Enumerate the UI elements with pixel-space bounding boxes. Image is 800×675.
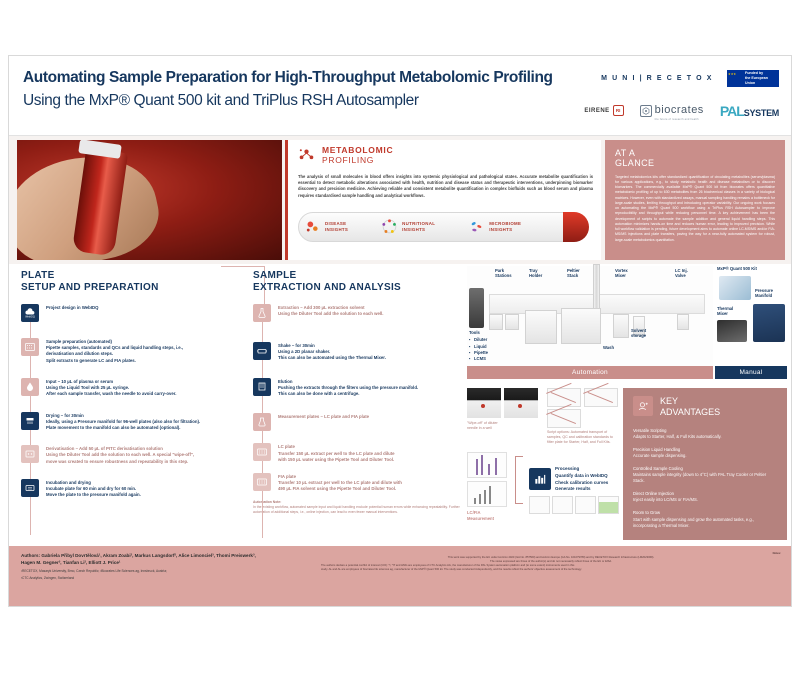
key-advantages-panel: KEY ADVANTAGES Versatile Scripting Adapt… <box>623 388 787 540</box>
plate-step-2-text: Sample preparation (automated) Pipette s… <box>46 338 183 364</box>
plate-step-6-text: Incubation and drying Incubate plate for… <box>46 479 141 499</box>
insights-tube-graphic: DISEASE INSIGHTS NUTRITIONAL INSIGHTS <box>288 200 604 256</box>
vortex-mixer-graphic <box>613 314 629 338</box>
sample-step-fia-plate: FIA plate Transfer 10 µL extract per wel… <box>253 473 463 493</box>
poster-title-line1: Automating Sample Preparation for High-T… <box>23 68 583 87</box>
sample-section-title-1: SAMPLE <box>253 270 463 282</box>
label-pressure-manifold: Pressure Manifold <box>755 288 773 299</box>
elution-icon <box>253 378 271 396</box>
plate-step-5-text: Derivatisation – Add 50 µL of PITC deriv… <box>46 445 194 465</box>
shaker-icon <box>253 342 271 360</box>
webiq-screenshots <box>529 496 619 514</box>
label-lc-inj-valve: LC Inj. Valve <box>675 268 688 279</box>
top-logo-row: M U N I | R E C E T O X Funded by the Eu… <box>601 70 779 87</box>
plate-step-4-text: Drying – for 30min Ideally, using a Pres… <box>46 412 200 432</box>
metabolomic-body-text: The analysis of small molecules in blood… <box>298 174 593 199</box>
bottom-logo-row: EIRENE RI biocrates the future of resear… <box>584 100 779 121</box>
sample-section-title-2: EXTRACTION AND ANALYSIS <box>253 282 463 294</box>
automation-note: Automation Note: In the existing workflo… <box>253 500 463 515</box>
sample-section: SAMPLE EXTRACTION AND ANALYSIS Extractio… <box>253 270 463 515</box>
peak <box>484 490 486 504</box>
label-vortex-mixer: Vortex Mixer <box>615 268 628 279</box>
sample-step-1-text: Extraction – Add 300 µL extraction solve… <box>278 304 383 322</box>
lc-valve-graphic <box>677 314 689 330</box>
peak <box>495 458 497 475</box>
sample-step-4-text: Measurement plates – LC plate and FIA pl… <box>278 413 369 431</box>
biocrates-logo: biocrates the future of research and hea… <box>640 100 704 121</box>
drying-icon <box>21 412 39 430</box>
sample-step-elution: Elution Pushing the extracts through the… <box>253 378 463 398</box>
autosampler-arm <box>593 264 600 314</box>
insights-row: DISEASE INSIGHTS NUTRITIONAL INSIGHTS <box>304 218 521 235</box>
metabolomic-title-2: PROFILING <box>322 156 393 166</box>
extraction-vial-icon <box>253 304 271 322</box>
plate-96-well-icon <box>21 338 39 356</box>
insight-microbiome-label: MICROBIOME INSIGHTS <box>489 221 521 232</box>
peak <box>474 498 476 504</box>
sample-step-3-text: Elution Pushing the extracts through the… <box>278 378 418 398</box>
measurement-plate-icon <box>253 413 271 431</box>
insight-microbiome: MICROBIOME INSIGHTS <box>468 218 521 235</box>
incubation-icon <box>21 479 39 497</box>
lcfia-processing-block: LC/FIA Measurement Processing Quantify d… <box>467 452 617 522</box>
processing-brace <box>515 456 523 504</box>
food-circle-icon <box>381 218 398 235</box>
key-advantages-list: Versatile Scripting Adapts to Starter, H… <box>633 428 777 529</box>
processing-line-1: Processing <box>555 466 608 473</box>
tools-list: Tools Diluter Liquid Pipette LCMS <box>469 330 488 362</box>
poster-header: Automating Sample Preparation for High-T… <box>9 56 791 136</box>
metabolomic-profiling-panel: METABOLOMIC PROFILING The analysis of sm… <box>285 140 601 260</box>
at-a-glance-body: Targeted metabolomics kits offer standar… <box>615 175 775 243</box>
label-wash: Wash <box>603 345 614 350</box>
label-thermal-mixer: Thermal Mixer <box>717 306 733 317</box>
plate-step-derivatisation: Derivatisation – Add 50 µL of PITC deriv… <box>21 445 249 465</box>
park-station-graphic <box>489 314 503 330</box>
key-advantages-title-block: KEY ADVANTAGES <box>660 396 720 418</box>
webiq-screenshot-1 <box>529 496 550 514</box>
biocrates-tagline: the future of research and health <box>655 118 704 121</box>
hero-band: METABOLOMIC PROFILING The analysis of sm… <box>9 136 791 264</box>
sample-steps-list: Extraction – Add 300 µL extraction solve… <box>253 304 463 515</box>
plate-section: PLATE SETUP AND PREPARATION WebIDQ Proje… <box>21 270 249 506</box>
bar-chart-icon <box>529 468 551 490</box>
affiliation-line-2: ³CTC Analytics, Zwingen, Switzerland <box>21 576 779 581</box>
tool-lcms: LCMS <box>469 356 488 362</box>
label-peltier-stack: Peltier Stack <box>567 268 580 279</box>
metabolomic-title-block: METABOLOMIC PROFILING <box>322 146 393 166</box>
eirene-ri-icon: RI <box>613 105 624 116</box>
key-advantages-title-2: ADVANTAGES <box>660 407 720 418</box>
peak <box>488 464 490 475</box>
autosampler-illustration: Park Stations Tray Holder Peltier Stack … <box>467 266 713 366</box>
plate-step-sample-prep: Sample preparation (automated) Pipette s… <box>21 338 249 364</box>
plate-step-input: Input – 10 µL of plasma or serum Using t… <box>21 378 249 398</box>
tray-holder-graphic <box>525 310 557 344</box>
eirene-logo: EIRENE RI <box>584 105 623 116</box>
fineprint-block: Notes: This work was supported by the EU… <box>321 552 781 572</box>
peak <box>479 494 481 504</box>
key-advantage-item: Room to Grow Start with sample dispensin… <box>633 510 777 528</box>
key-advantage-item: Direct Online Injection Inject easily in… <box>633 491 777 503</box>
photo-evidence-row: "Wipe-off" of diluter needle in a well S… <box>467 388 617 431</box>
derivatisation-icon <box>21 445 39 463</box>
script-screen-2 <box>584 388 618 407</box>
plate-section-title-2: SETUP AND PREPARATION <box>21 282 249 294</box>
plate-step-drying: Drying – for 30min Ideally, using a Pres… <box>21 412 249 432</box>
plate-steps-list: WebIDQ Project design in WebIDQ Sample p… <box>21 304 249 499</box>
label-tray-holder: Tray Holder <box>529 268 542 279</box>
processing-text: Processing Quantify data in WebIDQ Check… <box>555 466 608 493</box>
mxp-quant-kit-photo <box>719 276 751 300</box>
title-block: Automating Sample Preparation for High-T… <box>23 68 583 111</box>
eirene-wordmark: EIRENE <box>584 108 609 114</box>
sample-step-measurement-plates: Measurement plates – LC plate and FIA pl… <box>253 413 463 431</box>
sample-step-2-text: Shake – for 30min Using a 2D planar shak… <box>278 342 386 362</box>
script-screen-1 <box>547 388 581 407</box>
pal-system-word: SYSTEM <box>744 108 779 118</box>
fia-plate-icon <box>253 473 271 491</box>
key-advantages-title-1: KEY <box>660 396 720 407</box>
biocrates-wordmark: biocrates <box>655 104 704 116</box>
webiq-screenshot-3 <box>575 496 596 514</box>
metabolomic-profiling-header: METABOLOMIC PROFILING <box>298 146 593 166</box>
molecule-icon <box>298 146 315 163</box>
peak <box>489 486 491 504</box>
key-advantages-header: KEY ADVANTAGES <box>633 396 777 418</box>
droplet-icon <box>21 378 39 396</box>
insight-disease: DISEASE INSIGHTS <box>304 218 348 235</box>
automation-note-body: In the existing workflow, automated samp… <box>253 505 463 515</box>
sample-step-6-text: FIA plate Transfer 10 µL extract per wel… <box>278 473 402 493</box>
peak <box>481 455 483 475</box>
eu-stars-icon <box>727 70 744 87</box>
label-park-stations: Park Stations <box>495 268 512 279</box>
wipe-off-photo-2 <box>504 388 538 418</box>
manual-band-label: Manual <box>715 366 787 379</box>
plate-step-3-text: Input – 10 µL of plasma or serum Using t… <box>46 378 176 398</box>
sample-step-extraction: Extraction – Add 300 µL extraction solve… <box>253 304 463 322</box>
sample-step-shake: Shake – for 30min Using a 2D planar shak… <box>253 342 463 362</box>
plate-step-1-text: Project design in WebIDQ <box>46 304 98 322</box>
biocrates-hexagon-icon <box>640 105 652 117</box>
sample-step-5-text: LC plate Transfer 150 µL extract per wel… <box>278 443 395 463</box>
webiq-screenshot-4 <box>598 496 619 514</box>
webiq-screenshot-2 <box>552 496 573 514</box>
poster-canvas: Automating Sample Preparation for High-T… <box>8 55 792 607</box>
virus-icon <box>304 218 321 235</box>
peltier-stack-graphic <box>561 308 601 344</box>
instrument-diagram: Park Stations Tray Holder Peltier Stack … <box>467 266 787 384</box>
at-a-glance-title-2: GLANCE <box>615 158 775 168</box>
automation-band-label: Automation <box>467 366 713 379</box>
script-screens-row-1 <box>547 388 619 407</box>
label-solvent-storage: Solvent storage <box>631 328 646 339</box>
blood-tube-photo <box>17 140 282 260</box>
pressure-manifold-photo <box>753 304 785 342</box>
processing-line-3: Check calibration curves <box>555 480 608 487</box>
webiq-cloud-icon: WebIDQ <box>21 304 39 322</box>
script-screen-3 <box>547 409 581 428</box>
plate-section-title-1: PLATE <box>21 270 249 282</box>
eu-funding-logo: Funded by the European Union <box>727 70 779 87</box>
biocrates-wordmark-block: biocrates the future of research and hea… <box>655 100 704 121</box>
processing-line-2: Quantify data in WebIDQ <box>555 473 608 480</box>
tool-park-graphic <box>469 288 484 328</box>
fineprint-line-4: study. AL and AL are employees of biocra… <box>321 568 781 572</box>
insight-disease-label: DISEASE INSIGHTS <box>325 221 348 232</box>
plate-step-incubation: Incubation and drying Incubate plate for… <box>21 479 249 499</box>
sample-step-lc-plate: LC plate Transfer 150 µL extract per wel… <box>253 443 463 463</box>
bacteria-icon <box>468 218 485 235</box>
pal-wordmark: PAL <box>720 103 744 119</box>
thermal-mixer-photo <box>717 320 747 342</box>
label-mxp-quant-kit: MxP® Quant 500 Kit <box>717 266 757 271</box>
lightbulb-hand-icon <box>633 396 653 416</box>
poster-title-line2: Using the MxP® Quant 500 kit and TriPlus… <box>23 91 583 110</box>
key-advantage-item: Controlled Sample Cooling Maintains samp… <box>633 466 777 484</box>
script-option-screens: Script options: Automated transport of s… <box>547 388 619 446</box>
at-a-glance-title-1: AT A <box>615 148 775 158</box>
peak <box>476 459 478 475</box>
muni-recetox-logo: M U N I | R E C E T O X <box>601 75 713 82</box>
script-options-caption: Script options: Automated transport of s… <box>547 430 619 446</box>
at-a-glance-panel: AT A GLANCE Targeted metabolomics kits o… <box>605 140 785 260</box>
pal-system-logo: PAL SYSTEM <box>720 103 779 119</box>
poster-footer: Authors: Gabriela Přibyl Dovrtělová¹, Ak… <box>9 546 791 607</box>
insight-nutritional: NUTRITIONAL INSIGHTS <box>381 218 435 235</box>
manual-equipment-group: MxP® Quant 500 Kit Thermal Mixer Pressur… <box>715 266 787 366</box>
insight-nutritional-label: NUTRITIONAL INSIGHTS <box>402 221 435 232</box>
tools-title: Tools <box>469 330 488 336</box>
eu-funding-text: Funded by the European Union <box>744 71 779 86</box>
wipe-off-photo-1 <box>467 388 501 418</box>
svg-text:WebIDQ: WebIDQ <box>25 316 35 319</box>
chromatogram-fia <box>467 481 507 507</box>
plate-step-project-design: WebIDQ Project design in WebIDQ <box>21 304 249 322</box>
lc-plate-icon <box>253 443 271 461</box>
key-advantage-item: Versatile Scripting Adapts to Starter, H… <box>633 428 777 440</box>
wipe-off-caption: "Wipe-off" of diluter needle in a well <box>467 421 507 431</box>
park-station-graphic-2 <box>505 314 519 330</box>
processing-line-4: Generate results <box>555 486 608 493</box>
key-advantage-item: Precision Liquid Handling Accurate sampl… <box>633 447 777 459</box>
main-content: PLATE SETUP AND PREPARATION WebIDQ Proje… <box>9 264 791 546</box>
chromatogram-lc <box>467 452 507 478</box>
